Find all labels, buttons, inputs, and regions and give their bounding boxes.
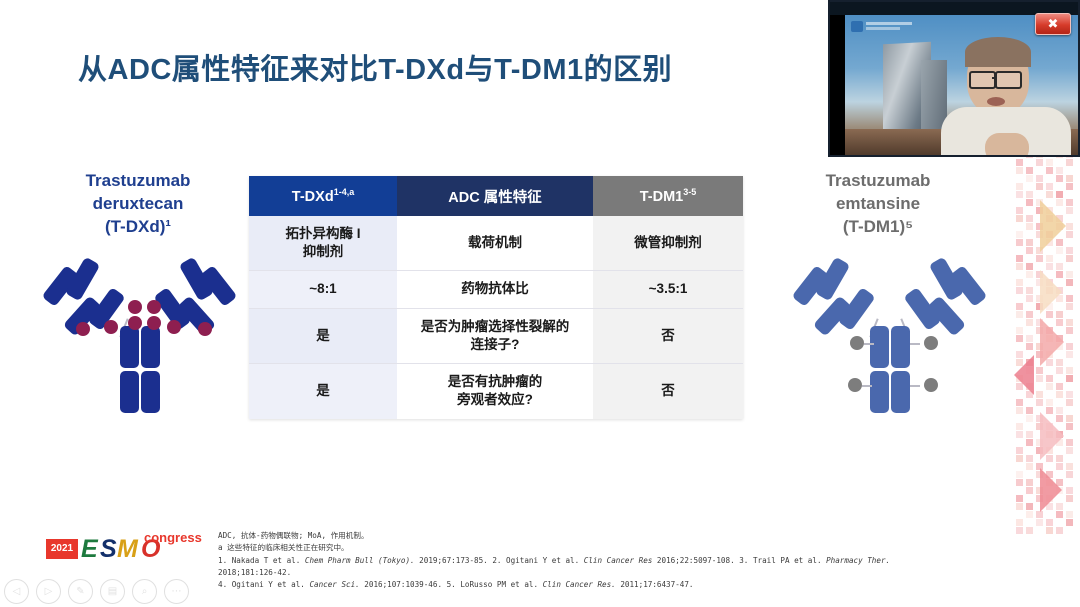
- decorative-square: [1026, 431, 1033, 438]
- pen-tool-button[interactable]: ✎: [68, 579, 93, 604]
- payload-dot: [76, 322, 90, 336]
- decorative-square: [1046, 167, 1053, 174]
- decorative-square: [1026, 167, 1033, 174]
- decorative-square: [1066, 199, 1073, 206]
- payload-link: [910, 343, 920, 345]
- left-drug-line2: deruxtecan: [28, 193, 248, 216]
- fc-segment: [870, 326, 889, 368]
- decorative-square: [1016, 159, 1023, 166]
- decorative-square: [1066, 519, 1073, 526]
- decorative-square: [1016, 519, 1023, 526]
- decorative-square: [1066, 351, 1073, 358]
- decorative-square: [1026, 175, 1033, 182]
- reference-line-1: 1. Nakada T et al. Chem Pharm Bull (Toky…: [218, 555, 978, 567]
- payload-dot: [198, 322, 212, 336]
- reference-line-2: 2018;181:126-42.: [218, 567, 978, 579]
- decorative-square: [1056, 167, 1063, 174]
- video-overlay[interactable]: ✖: [828, 0, 1080, 157]
- zoom-button[interactable]: ⌕: [132, 579, 157, 604]
- decorative-square: [1066, 423, 1073, 430]
- decorative-pattern: [1014, 150, 1080, 540]
- payload-dot: [147, 316, 161, 330]
- payload-dot: [850, 336, 864, 350]
- left-drug-label: Trastuzumab deruxtecan (T-DXd)¹: [28, 170, 248, 239]
- decorative-square: [1046, 191, 1053, 198]
- decorative-square: [1066, 471, 1073, 478]
- table-row: 是是否为肿瘤选择性裂解的连接子?否: [249, 308, 743, 363]
- payload-dot: [147, 300, 161, 314]
- table-header-t-dxd: T-DXd1-4,a: [249, 176, 397, 216]
- decorative-square: [1066, 319, 1073, 326]
- fc-segment: [141, 371, 160, 413]
- decorative-square: [1016, 479, 1023, 486]
- decorative-square: [1026, 415, 1033, 422]
- save-button[interactable]: ▤: [100, 579, 125, 604]
- footnote-a: a 这些特征的临床相关性正在研究中。: [218, 542, 978, 554]
- logo-year: 2021: [46, 539, 78, 559]
- decorative-square: [1026, 335, 1033, 342]
- table-header-attribute: ADC 属性特征: [397, 176, 593, 216]
- decorative-square: [1036, 159, 1043, 166]
- left-drug-line1: Trastuzumab: [28, 170, 248, 193]
- logo-congress-text: congress: [144, 530, 202, 545]
- decorative-square: [1026, 527, 1033, 534]
- decorative-square: [1046, 255, 1053, 262]
- more-options-button[interactable]: ⋯: [164, 579, 189, 604]
- cell-t-dm1: 否: [593, 364, 743, 419]
- fc-segment: [891, 326, 910, 368]
- decorative-square: [1026, 463, 1033, 470]
- decorative-square: [1036, 511, 1043, 518]
- decorative-square: [1026, 503, 1033, 510]
- decorative-square: [1046, 375, 1053, 382]
- decorative-square: [1016, 399, 1023, 406]
- decorative-square: [1066, 391, 1073, 398]
- decorative-square: [1026, 239, 1033, 246]
- right-antibody-diagram: [790, 248, 990, 408]
- decorative-square: [1026, 511, 1033, 518]
- decorative-square: [1036, 183, 1043, 190]
- decorative-square: [1066, 159, 1073, 166]
- decorative-square: [1066, 399, 1073, 406]
- decorative-square: [1066, 367, 1073, 374]
- decorative-square: [1016, 279, 1023, 286]
- decorative-square: [1056, 511, 1063, 518]
- decorative-square: [1046, 183, 1053, 190]
- decorative-square: [1026, 319, 1033, 326]
- video-frame: [845, 15, 1078, 155]
- decorative-square: [1016, 455, 1023, 462]
- decorative-triangle: [1040, 200, 1066, 252]
- decorative-square: [1026, 455, 1033, 462]
- video-watermark-line2: [866, 27, 900, 30]
- decorative-square: [1046, 263, 1053, 270]
- decorative-square: [1066, 255, 1073, 262]
- slide-toolbar[interactable]: ◁▷✎▤⌕⋯: [4, 578, 200, 604]
- payload-dot: [924, 378, 938, 392]
- decorative-triangle: [1040, 318, 1064, 366]
- decorative-square: [1036, 399, 1043, 406]
- decorative-square: [1016, 167, 1023, 174]
- decorative-square: [1026, 287, 1033, 294]
- decorative-square: [1016, 311, 1023, 318]
- decorative-square: [1046, 383, 1053, 390]
- table-row: 拓扑异构酶 I抑制剂载荷机制微管抑制剂: [249, 216, 743, 271]
- decorative-square: [1066, 487, 1073, 494]
- decorative-square: [1066, 279, 1073, 286]
- right-drug-line2: emtansine: [768, 193, 988, 216]
- decorative-square: [1066, 247, 1073, 254]
- fc-segment: [870, 371, 889, 413]
- speaker-hair: [965, 37, 1031, 67]
- right-drug-label: Trastuzumab emtansine (T-DM1)⁵: [768, 170, 988, 239]
- presentation-slide: 从ADC属性特征来对比T-DXd与T-DM1的区别 Trastuzumab de…: [0, 0, 1080, 607]
- cell-attribute: 载荷机制: [397, 216, 593, 271]
- fc-segment: [120, 371, 139, 413]
- adc-comparison-table: T-DXd1-4,a ADC 属性特征 T-DM13-5 拓扑异构酶 I抑制剂载…: [249, 176, 743, 419]
- payload-dot: [128, 300, 142, 314]
- fc-segment: [120, 326, 139, 368]
- decorative-square: [1066, 511, 1073, 518]
- reference-line-3: 4. Ogitani Y et al. Cancer Sci. 2016;107…: [218, 579, 978, 591]
- decorative-square: [1016, 527, 1023, 534]
- decorative-square: [1066, 447, 1073, 454]
- decorative-square: [1066, 375, 1073, 382]
- decorative-square: [1016, 495, 1023, 502]
- decorative-square: [1056, 175, 1063, 182]
- close-icon[interactable]: ✖: [1035, 13, 1071, 35]
- decorative-square: [1026, 215, 1033, 222]
- speaker-hand: [985, 133, 1029, 155]
- cell-attribute: 药物抗体比: [397, 271, 593, 308]
- decorative-square: [1066, 439, 1073, 446]
- decorative-square: [1026, 439, 1033, 446]
- decorative-square: [1066, 495, 1073, 502]
- decorative-triangle: [1040, 468, 1062, 512]
- decorative-square: [1026, 343, 1033, 350]
- table-row: 是是否有抗肿瘤的旁观者效应?否: [249, 364, 743, 419]
- decorative-square: [1016, 503, 1023, 510]
- decorative-square: [1056, 367, 1063, 374]
- decorative-square: [1066, 295, 1073, 302]
- decorative-square: [1066, 327, 1073, 334]
- decorative-square: [1046, 159, 1053, 166]
- decorative-square: [1026, 295, 1033, 302]
- logo-letter-s: S: [100, 534, 117, 564]
- page-title: 从ADC属性特征来对比T-DXd与T-DM1的区别: [78, 46, 672, 88]
- decorative-triangle: [1040, 270, 1062, 314]
- payload-link: [910, 385, 920, 387]
- cell-t-dm1: ~3.5:1: [593, 271, 743, 308]
- cell-t-dm1: 否: [593, 308, 743, 363]
- decorative-square: [1036, 367, 1043, 374]
- decorative-square: [1016, 447, 1023, 454]
- next-slide-button[interactable]: ▷: [36, 579, 61, 604]
- decorative-square: [1026, 199, 1033, 206]
- decorative-square: [1026, 487, 1033, 494]
- cell-attribute: 是否有抗肿瘤的旁观者效应?: [397, 364, 593, 419]
- decorative-square: [1066, 231, 1073, 238]
- decorative-triangle: [1014, 355, 1034, 395]
- decorative-square: [1016, 191, 1023, 198]
- decorative-square: [1016, 263, 1023, 270]
- decorative-square: [1046, 527, 1053, 534]
- logo-letter-e: E: [81, 534, 98, 564]
- table-header-row: T-DXd1-4,a ADC 属性特征 T-DM13-5: [249, 176, 743, 216]
- payload-dot: [104, 320, 118, 334]
- cell-t-dm1: 微管抑制剂: [593, 216, 743, 271]
- decorative-square: [1036, 175, 1043, 182]
- cell-t-dxd: 拓扑异构酶 I抑制剂: [249, 216, 397, 271]
- decorative-square: [1016, 207, 1023, 214]
- cell-t-dxd: ~8:1: [249, 271, 397, 308]
- decorative-square: [1026, 479, 1033, 486]
- cell-t-dxd: 是: [249, 364, 397, 419]
- fc-segment: [891, 371, 910, 413]
- payload-dot: [848, 378, 862, 392]
- right-drug-line1: Trastuzumab: [768, 170, 988, 193]
- decorative-square: [1016, 303, 1023, 310]
- decorative-square: [1046, 399, 1053, 406]
- decorative-square: [1016, 231, 1023, 238]
- decorative-square: [1066, 271, 1073, 278]
- speaker-mouth: [987, 97, 1005, 106]
- decorative-square: [1036, 375, 1043, 382]
- decorative-square: [1026, 223, 1033, 230]
- decorative-square: [1016, 423, 1023, 430]
- decorative-square: [1026, 247, 1033, 254]
- footnotes: ADC, 抗体-药物偶联物; MoA, 作用机制。 a 这些特征的临床相关性正在…: [218, 530, 978, 591]
- decorative-square: [1036, 391, 1043, 398]
- table-header-t-dm1: T-DM13-5: [593, 176, 743, 216]
- decorative-square: [1016, 255, 1023, 262]
- decorative-square: [1066, 183, 1073, 190]
- payload-dot: [167, 320, 181, 334]
- decorative-square: [1056, 383, 1063, 390]
- cell-t-dxd: 是: [249, 308, 397, 363]
- left-drug-line3: (T-DXd)¹: [28, 216, 248, 239]
- table-row: ~8:1药物抗体比~3.5:1: [249, 271, 743, 308]
- esmo-congress-logo: 2021 E S M O congress: [46, 531, 206, 567]
- decorative-square: [1036, 519, 1043, 526]
- decorative-square: [1036, 255, 1043, 262]
- decorative-square: [1056, 527, 1063, 534]
- decorative-square: [1066, 303, 1073, 310]
- decorative-square: [1026, 407, 1033, 414]
- speaker-figure: [937, 41, 1077, 155]
- decorative-square: [1026, 263, 1033, 270]
- decorative-square: [1026, 191, 1033, 198]
- decorative-square: [1066, 207, 1073, 214]
- glasses-bridge-icon: [992, 77, 997, 79]
- logo-letter-m: M: [117, 534, 138, 564]
- decorative-square: [1066, 343, 1073, 350]
- decorative-square: [1016, 471, 1023, 478]
- decorative-square: [1026, 311, 1033, 318]
- decorative-square: [1016, 215, 1023, 222]
- glasses-left-lens-icon: [969, 71, 996, 89]
- decorative-square: [1066, 415, 1073, 422]
- left-antibody-diagram: [40, 248, 240, 408]
- payload-link: [864, 343, 874, 345]
- decorative-square: [1016, 335, 1023, 342]
- video-watermark-line1: [866, 22, 912, 25]
- footnote-abbrev: ADC, 抗体-药物偶联物; MoA, 作用机制。: [218, 530, 978, 542]
- decorative-square: [1046, 519, 1053, 526]
- decorative-square: [1016, 287, 1023, 294]
- decorative-square: [1056, 191, 1063, 198]
- decorative-square: [1066, 175, 1073, 182]
- decorative-square: [1056, 391, 1063, 398]
- payload-dot: [924, 336, 938, 350]
- glasses-right-lens-icon: [995, 71, 1022, 89]
- decorative-triangle: [1040, 412, 1064, 460]
- payload-link: [862, 385, 872, 387]
- decorative-square: [1016, 327, 1023, 334]
- decorative-square: [1016, 239, 1023, 246]
- decorative-square: [1016, 431, 1023, 438]
- fc-segment: [141, 326, 160, 368]
- decorative-square: [1026, 271, 1033, 278]
- right-drug-line3: (T-DM1)⁵: [768, 216, 988, 239]
- decorative-square: [1066, 223, 1073, 230]
- video-watermark-icon: [851, 21, 863, 32]
- decorative-square: [1016, 183, 1023, 190]
- payload-dot: [128, 316, 142, 330]
- decorative-square: [1066, 463, 1073, 470]
- decorative-square: [1016, 407, 1023, 414]
- decorative-square: [1056, 263, 1063, 270]
- cell-attribute: 是否为肿瘤选择性裂解的连接子?: [397, 308, 593, 363]
- previous-slide-button[interactable]: ◁: [4, 579, 29, 604]
